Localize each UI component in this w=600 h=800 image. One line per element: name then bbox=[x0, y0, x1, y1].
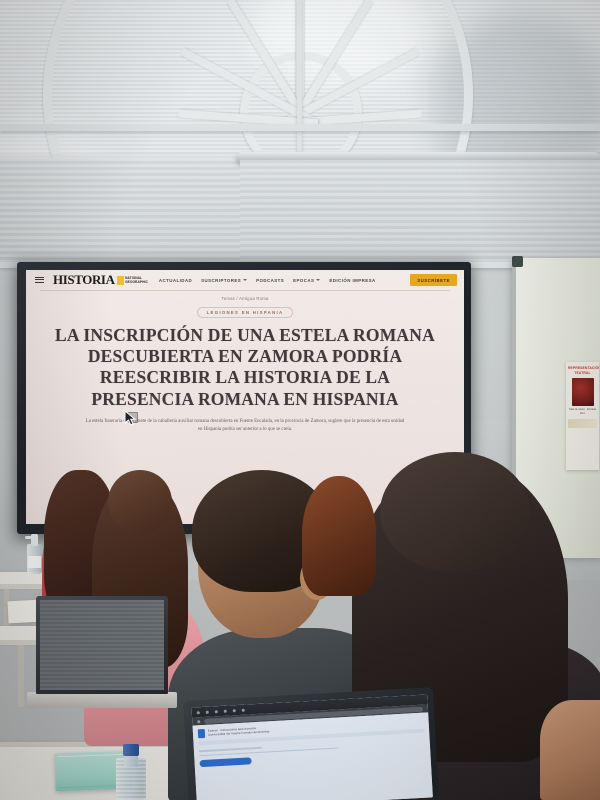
mouse-pointer-icon bbox=[124, 410, 139, 427]
nav-label: ACTUALIDAD bbox=[159, 278, 192, 283]
browser-dot-icon bbox=[215, 710, 218, 713]
laptop-middle-screen bbox=[40, 600, 164, 690]
nav-label: EDICIÓN IMPRESA bbox=[329, 278, 375, 283]
hand-sanitizer-bottle bbox=[27, 534, 42, 574]
logo-wordmark: HISTORIA bbox=[53, 272, 115, 288]
wall-poster: REPRESENTACIÓN TEATRAL Sala de actos · E… bbox=[566, 362, 599, 470]
hamburger-menu-icon[interactable] bbox=[35, 277, 44, 284]
nav-item-podcasts[interactable]: PODCASTS bbox=[256, 278, 284, 283]
poster-body: Sala de actos · Entrada libre bbox=[568, 408, 597, 415]
nav-label: EPOCAS bbox=[293, 278, 314, 283]
nav-item-actualidad[interactable]: ACTUALIDAD bbox=[159, 278, 192, 283]
laptop-foreground[interactable]: Examen · Instrucciones para la prueba Ar… bbox=[183, 687, 439, 800]
breadcrumb[interactable]: Temas / Antigua Roma bbox=[26, 296, 464, 301]
bottle-cap bbox=[123, 744, 139, 756]
subscribe-button[interactable]: SUSCRÍBETE bbox=[410, 274, 457, 286]
browser-dot-icon bbox=[197, 711, 200, 714]
browser-dot-icon bbox=[242, 708, 245, 711]
browser-dot-icon bbox=[233, 709, 236, 712]
ng-line2: GEOGRAPHIC bbox=[125, 280, 148, 284]
roller-blind-right bbox=[240, 160, 600, 268]
submit-button[interactable] bbox=[199, 758, 251, 768]
site-logo[interactable]: HISTORIA NATIONAL GEOGRAPHIC bbox=[53, 272, 148, 288]
window-rail-upper bbox=[0, 124, 600, 131]
nav-item-suscriptores[interactable]: SUSCRIPTORES bbox=[201, 278, 247, 283]
ng-yellow-box-icon bbox=[117, 276, 124, 285]
site-navbar: HISTORIA NATIONAL GEOGRAPHIC ACTUALIDAD … bbox=[26, 270, 464, 290]
doc-text-line bbox=[199, 747, 262, 752]
poster-heading-line2: TEATRAL bbox=[568, 371, 597, 376]
poster-heading-line1: REPRESENTACIÓN bbox=[568, 366, 597, 371]
article-headline: LA INSCRIPCIÓN DE UNA ESTELA ROMANA DESC… bbox=[48, 325, 442, 410]
chevron-down-icon bbox=[316, 279, 320, 281]
navbar-divider bbox=[40, 290, 450, 291]
laptop-foreground-lid: Examen · Instrucciones para la prueba Ar… bbox=[183, 687, 439, 800]
nav-item-epocas[interactable]: EPOCAS bbox=[293, 278, 320, 283]
water-bottle bbox=[116, 744, 146, 800]
laptop-middle-base bbox=[27, 692, 177, 708]
poster-footer bbox=[568, 419, 597, 428]
classroom-photo: REPRESENTACIÓN TEATRAL Sala de actos · E… bbox=[0, 0, 600, 800]
chevron-down-icon bbox=[243, 279, 247, 281]
category-tag[interactable]: LEGIONES EN HISPANIA bbox=[197, 307, 294, 318]
sanitizer-label bbox=[28, 556, 41, 568]
browser-dot-icon bbox=[206, 710, 209, 713]
poster-image bbox=[572, 378, 594, 406]
document-viewport[interactable]: Examen · Instrucciones para la prueba Ar… bbox=[193, 712, 433, 800]
nav-links: ACTUALIDAD SUSCRIPTORES PODCASTS EPOCAS … bbox=[159, 278, 401, 283]
ng-text: NATIONAL GEOGRAPHIC bbox=[125, 276, 148, 284]
bottle-neck bbox=[124, 755, 138, 767]
document-title: Examen · Instrucciones para la prueba Ar… bbox=[208, 725, 270, 737]
national-geographic-logo: NATIONAL GEOGRAPHIC bbox=[117, 276, 148, 285]
nav-item-edicion-impresa[interactable]: EDICIÓN IMPRESA bbox=[329, 278, 375, 283]
reload-icon[interactable] bbox=[197, 720, 200, 723]
google-docs-icon bbox=[198, 729, 205, 738]
laptop-foreground-screen[interactable]: Examen · Instrucciones para la prueba Ar… bbox=[192, 694, 433, 800]
cursor-arrow-shape bbox=[124, 410, 139, 427]
laptop-middle[interactable] bbox=[36, 596, 168, 712]
laptop-middle-lid bbox=[36, 596, 168, 694]
browser-dot-icon bbox=[224, 709, 227, 712]
nav-label: SUSCRIPTORES bbox=[201, 278, 241, 283]
desk-leg-3 bbox=[18, 645, 24, 707]
nav-label: PODCASTS bbox=[256, 278, 284, 283]
sanitizer-nozzle bbox=[25, 536, 33, 539]
whiteboard-corner-bracket bbox=[512, 256, 523, 267]
